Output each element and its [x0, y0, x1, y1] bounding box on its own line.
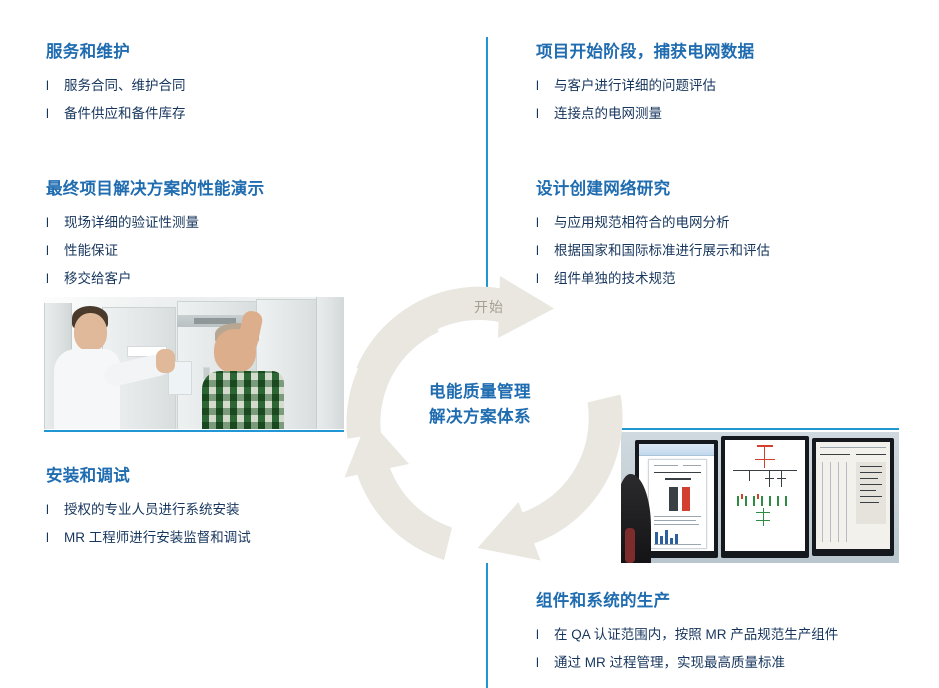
section-performance-list: l 现场详细的验证性测量 l 性能保证 l 移交给客户 [46, 214, 466, 289]
bullet-icon: l [536, 270, 554, 288]
bullet-icon: l [536, 242, 554, 260]
cycle-arrow-right-body [512, 395, 623, 547]
section-service-list: l 服务合同、维护合同 l 备件供应和备件库存 [46, 77, 466, 123]
photo-engineering-workstation [621, 432, 899, 563]
list-item-text: 通过 MR 过程管理，实现最高质量标准 [554, 654, 785, 672]
bullet-icon: l [536, 654, 554, 672]
poster-canvas: 电能质量管理 解决方案体系 开始 服务和维护 l 服务合同、维护合同 l 备件供… [0, 0, 939, 688]
photo-left-person1-head [74, 313, 107, 351]
monitor-2 [721, 436, 809, 558]
list-item: l 备件供应和备件库存 [46, 105, 466, 123]
list-item-text: 服务合同、维护合同 [64, 77, 186, 95]
section-design: 设计创建网络研究 l 与应用规范相符合的电网分析 l 根据国家和国际标准进行展示… [536, 179, 936, 298]
list-item: l 根据国家和国际标准进行展示和评估 [536, 242, 936, 260]
section-production-list: l 在 QA 认证范围内，按照 MR 产品规范生产组件 l 通过 MR 过程管理… [536, 626, 936, 672]
section-design-list: l 与应用规范相符合的电网分析 l 根据国家和国际标准进行展示和评估 l 组件单… [536, 214, 936, 289]
section-performance-title: 最终项目解决方案的性能演示 [46, 179, 466, 200]
monitor-1-document [648, 459, 707, 549]
section-installation-list: l 授权的专业人员进行系统安装 l MR 工程师进行安装监督和调试 [46, 501, 466, 547]
photo-left-person2-torso [202, 371, 284, 429]
list-item-text: 备件供应和备件库存 [64, 105, 186, 123]
bullet-icon: l [46, 529, 64, 547]
list-item-text: 授权的专业人员进行系统安装 [64, 501, 240, 519]
photo-left-person1-torso [54, 349, 120, 429]
bullet-icon: l [536, 77, 554, 95]
list-item: l 服务合同、维护合同 [46, 77, 466, 95]
list-item: l 现场详细的验证性测量 [46, 214, 466, 232]
list-item-text: 性能保证 [64, 242, 118, 260]
list-item-text: 现场详细的验证性测量 [64, 214, 199, 232]
monitor-3-screen [816, 442, 890, 549]
list-item-text: MR 工程师进行安装监督和调试 [64, 529, 251, 547]
section-production-title: 组件和系统的生产 [536, 591, 936, 612]
monitor-2-screen [725, 440, 805, 551]
bullet-icon: l [536, 105, 554, 123]
divider-vertical-bottom [486, 563, 488, 688]
list-item-text: 根据国家和国际标准进行展示和评估 [554, 242, 770, 260]
list-item: l 连接点的电网测量 [536, 105, 936, 123]
list-item: l 性能保证 [46, 242, 466, 260]
divider-horizontal-left [44, 430, 344, 432]
bullet-icon: l [46, 105, 64, 123]
list-item: l 与客户进行详细的问题评估 [536, 77, 936, 95]
list-item: l 授权的专业人员进行系统安装 [46, 501, 466, 519]
bullet-icon: l [46, 77, 64, 95]
list-item-text: 与应用规范相符合的电网分析 [554, 214, 730, 232]
monitor-1-toolbar [639, 444, 714, 456]
list-item-text: 在 QA 认证范围内，按照 MR 产品规范生产组件 [554, 626, 838, 644]
cycle-start-label: 开始 [474, 297, 504, 317]
divider-horizontal-right [621, 428, 899, 430]
section-design-title: 设计创建网络研究 [536, 179, 936, 200]
photo-installation-technicians [44, 297, 344, 429]
bullet-icon: l [536, 214, 554, 232]
section-performance: 最终项目解决方案的性能演示 l 现场详细的验证性测量 l 性能保证 l 移交给客… [46, 179, 466, 298]
list-item: l 组件单独的技术规范 [536, 270, 936, 288]
section-project-start: 项目开始阶段，捕获电网数据 l 与客户进行详细的问题评估 l 连接点的电网测量 [536, 42, 936, 133]
section-service: 服务和维护 l 服务合同、维护合同 l 备件供应和备件库存 [46, 42, 466, 133]
monitor-3 [812, 438, 894, 556]
section-project-start-list: l 与客户进行详细的问题评估 l 连接点的电网测量 [536, 77, 936, 123]
bullet-icon: l [46, 270, 64, 288]
section-installation: 安装和调试 l 授权的专业人员进行系统安装 l MR 工程师进行安装监督和调试 [46, 466, 466, 557]
photo-left-person1-hand [156, 349, 175, 373]
list-item: l 与应用规范相符合的电网分析 [536, 214, 936, 232]
section-service-title: 服务和维护 [46, 42, 466, 63]
list-item: l MR 工程师进行安装监督和调试 [46, 529, 466, 547]
list-item-text: 与客户进行详细的问题评估 [554, 77, 716, 95]
section-project-start-title: 项目开始阶段，捕获电网数据 [536, 42, 936, 63]
bullet-icon: l [46, 214, 64, 232]
list-item-text: 连接点的电网测量 [554, 105, 662, 123]
section-production: 组件和系统的生产 l 在 QA 认证范围内，按照 MR 产品规范生产组件 l 通… [536, 591, 936, 682]
list-item-text: 移交给客户 [64, 270, 132, 288]
bullet-icon: l [46, 242, 64, 260]
list-item: l 移交给客户 [46, 270, 466, 288]
section-installation-title: 安装和调试 [46, 466, 466, 487]
list-item-text: 组件单独的技术规范 [554, 270, 676, 288]
divider-vertical-top [486, 37, 488, 301]
list-item: l 通过 MR 过程管理，实现最高质量标准 [536, 654, 936, 672]
list-item: l 在 QA 认证范围内，按照 MR 产品规范生产组件 [536, 626, 936, 644]
bullet-icon: l [536, 626, 554, 644]
bullet-icon: l [46, 501, 64, 519]
